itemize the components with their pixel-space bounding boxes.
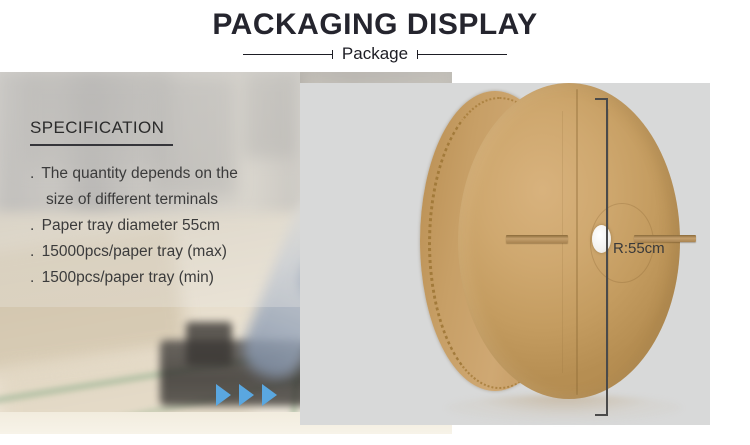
specification-underline	[30, 144, 173, 146]
spec-text: size of different terminals	[46, 191, 218, 208]
spec-bullet: .	[30, 217, 37, 234]
reel-reflection	[446, 395, 682, 421]
subtitle-row: Package	[0, 44, 750, 64]
spec-list-item: . 1500pcs/paper tray (min)	[30, 265, 300, 291]
photo-machine-head	[186, 322, 232, 366]
subtitle-label: Package	[333, 44, 417, 64]
triangle-right-icon	[239, 384, 254, 406]
spec-text: 15000pcs/paper tray (max)	[42, 243, 227, 260]
specification-block: SPECIFICATION . The quantity depends on …	[30, 118, 300, 291]
dimension-label: R:55cm	[613, 240, 665, 258]
triangle-right-icon	[216, 384, 231, 406]
spec-list-item: size of different terminals	[30, 187, 300, 213]
subtitle-rule-right	[417, 50, 507, 59]
spec-text: Paper tray diameter 55cm	[42, 217, 220, 234]
reel-slot-left	[506, 235, 568, 243]
reel-score-line	[576, 89, 578, 395]
spec-bullet: .	[30, 165, 37, 182]
spec-list-item: . The quantity depends on the	[30, 161, 300, 187]
subtitle-rule-left	[243, 50, 333, 59]
header: PACKAGING DISPLAY Package	[0, 0, 750, 72]
spec-bullet: .	[30, 243, 37, 260]
spec-text: 1500pcs/paper tray (min)	[42, 269, 214, 286]
triangle-right-icon	[262, 384, 277, 406]
specification-heading: SPECIFICATION	[30, 118, 300, 138]
dimension-spine	[606, 98, 608, 416]
spec-list-item: . 15000pcs/paper tray (max)	[30, 239, 300, 265]
dimension-bracket	[595, 98, 607, 416]
spec-text: The quantity depends on the	[41, 165, 237, 182]
packaging-display-page: PACKAGING DISPLAY Package SPECIFICATION	[0, 0, 750, 445]
spec-list-item: . Paper tray diameter 55cm	[30, 213, 300, 239]
dimension-tick-bottom	[595, 414, 607, 416]
spec-bullet: .	[30, 269, 37, 286]
page-title: PACKAGING DISPLAY	[0, 8, 750, 42]
specification-list: . The quantity depends on the size of di…	[30, 161, 300, 291]
arrow-indicator-group	[216, 384, 277, 406]
